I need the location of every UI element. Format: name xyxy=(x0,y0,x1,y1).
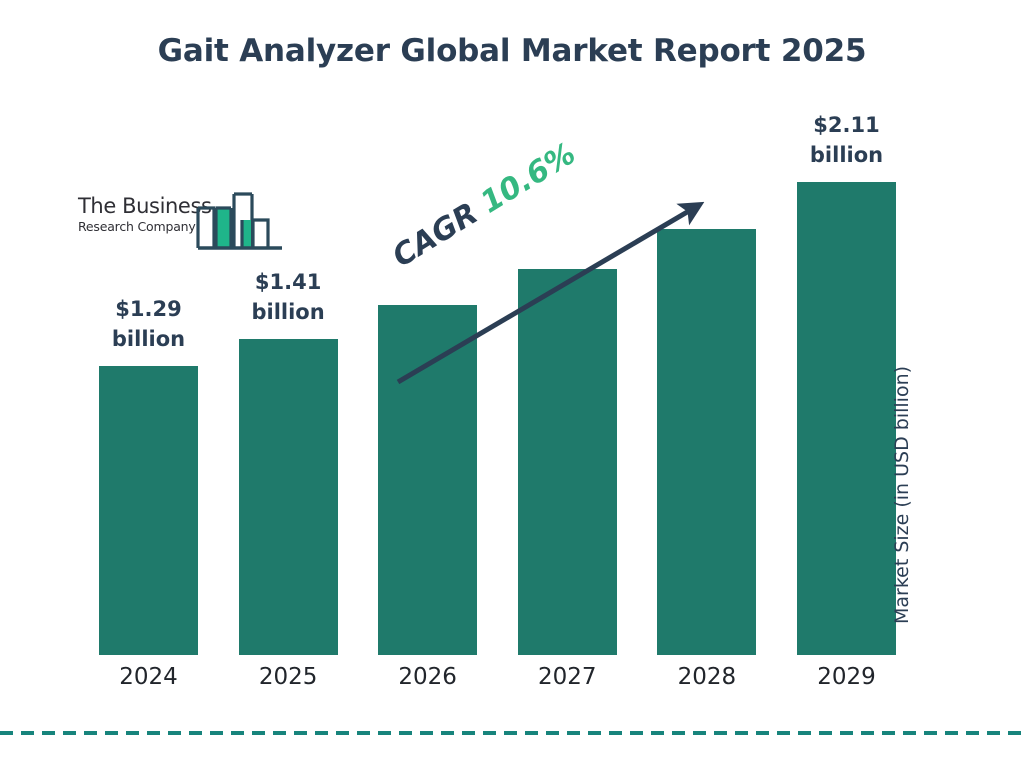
growth-arrow xyxy=(0,0,1024,768)
chart-canvas: Gait Analyzer Global Market Report 2025 … xyxy=(0,0,1024,768)
footer-divider xyxy=(0,731,1024,735)
y-axis-title: Market Size (in USD billion) xyxy=(886,330,918,660)
